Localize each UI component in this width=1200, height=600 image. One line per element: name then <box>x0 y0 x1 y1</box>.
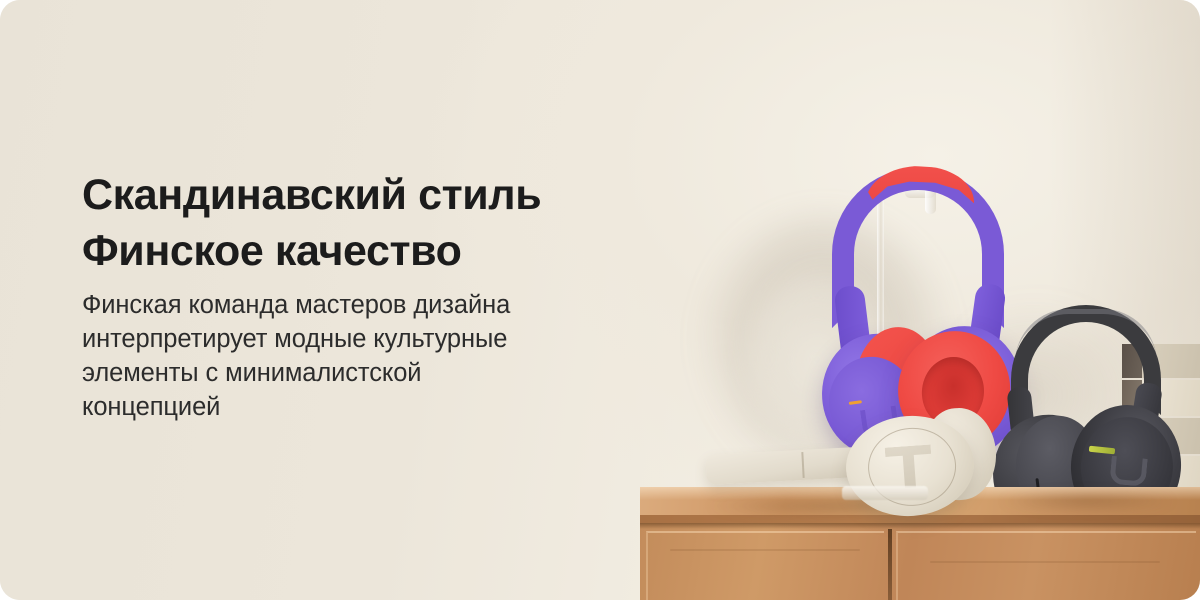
led-indicator-icon <box>849 400 862 405</box>
banner-headline: Скандинавский стиль Финское качество <box>82 168 682 280</box>
wood-grain <box>670 549 860 551</box>
black-headphone-contact-shadow <box>1000 492 1175 510</box>
cabinet-shadow-line <box>640 523 1200 529</box>
headphone-stand-base <box>842 486 928 500</box>
banner-copy: Скандинавский стиль Финское качество Фин… <box>82 168 682 424</box>
promo-banner[interactable]: Скандинавский стиль Финское качество Фин… <box>0 0 1200 600</box>
drawer-bevel-left <box>646 531 884 600</box>
wood-grain <box>930 561 1160 563</box>
drawer-bevel-right <box>896 531 1196 600</box>
brand-logo-icon <box>1109 456 1147 487</box>
headband-highlight <box>1015 309 1157 363</box>
banner-subcopy: Финская команда мастеров дизайна интерпр… <box>82 289 682 425</box>
black-headphones[interactable] <box>993 305 1178 500</box>
cream-headphones[interactable] <box>706 408 996 518</box>
purple-headphones[interactable] <box>818 168 1018 403</box>
drawer-divider <box>888 529 892 600</box>
